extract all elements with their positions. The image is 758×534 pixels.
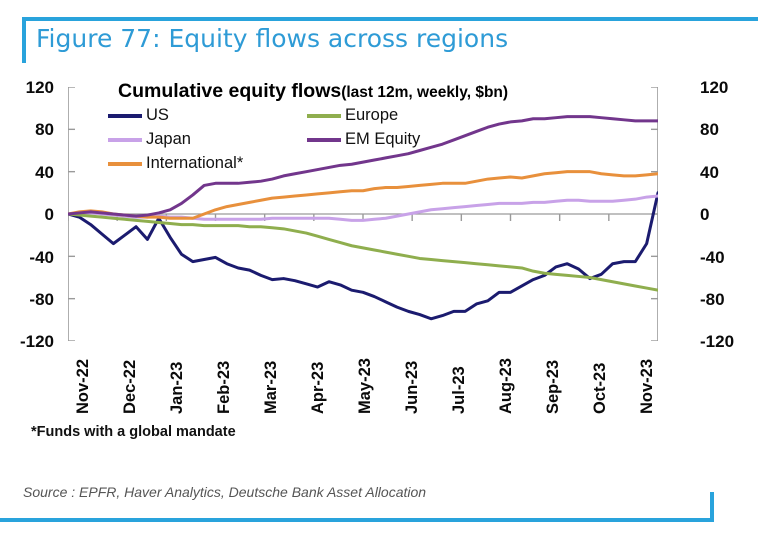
ytick-right-80: 80 <box>700 121 748 138</box>
xtick-dec-22: Dec-22 <box>121 360 140 414</box>
ytick-right-m120: -120 <box>700 333 748 350</box>
ytick-left-120: 120 <box>6 79 54 96</box>
ytick-left-40: 40 <box>6 164 54 181</box>
xtick-oct-23: Oct-23 <box>591 363 610 414</box>
ytick-right-120: 120 <box>700 79 748 96</box>
series-line-us <box>68 193 658 319</box>
ytick-right-40: 40 <box>700 164 748 181</box>
xtick-apr-23: Apr-23 <box>309 362 328 414</box>
source-note: Source : EPFR, Haver Analytics, Deutsche… <box>23 484 426 500</box>
figure-title: Figure 77: Equity flows across regions <box>36 24 508 53</box>
ytick-right-m40: -40 <box>700 249 748 266</box>
plot-area <box>68 87 658 341</box>
accent-rule-left <box>22 17 26 63</box>
xtick-jun-23: Jun-23 <box>403 361 422 414</box>
accent-rule-bottom <box>0 518 714 522</box>
xtick-mar-23: Mar-23 <box>262 361 281 414</box>
xtick-may-23: May-23 <box>356 358 375 414</box>
ytick-right-m80: -80 <box>700 291 748 308</box>
figure-container: Figure 77: Equity flows across regions C… <box>0 0 758 534</box>
accent-rule-right <box>710 492 714 522</box>
xtick-nov-23: Nov-23 <box>638 359 657 414</box>
chart-svg <box>68 87 658 341</box>
xtick-feb-23: Feb-23 <box>215 361 234 414</box>
ytick-left-m80: -80 <box>6 291 54 308</box>
xtick-aug-23: Aug-23 <box>497 358 516 414</box>
xtick-sep-23: Sep-23 <box>544 360 563 414</box>
xtick-nov-22: Nov-22 <box>74 359 93 414</box>
ytick-left-m120: -120 <box>6 333 54 350</box>
accent-rule-top <box>22 17 758 21</box>
ytick-left-0: 0 <box>6 206 54 223</box>
ytick-right-0: 0 <box>700 206 748 223</box>
ytick-left-m40: -40 <box>6 249 54 266</box>
xtick-jan-23: Jan-23 <box>168 362 187 414</box>
xtick-jul-23: Jul-23 <box>450 366 469 414</box>
ytick-left-80: 80 <box>6 121 54 138</box>
series-line-international <box>68 172 658 219</box>
chart-footnote: *Funds with a global mandate <box>31 424 236 440</box>
